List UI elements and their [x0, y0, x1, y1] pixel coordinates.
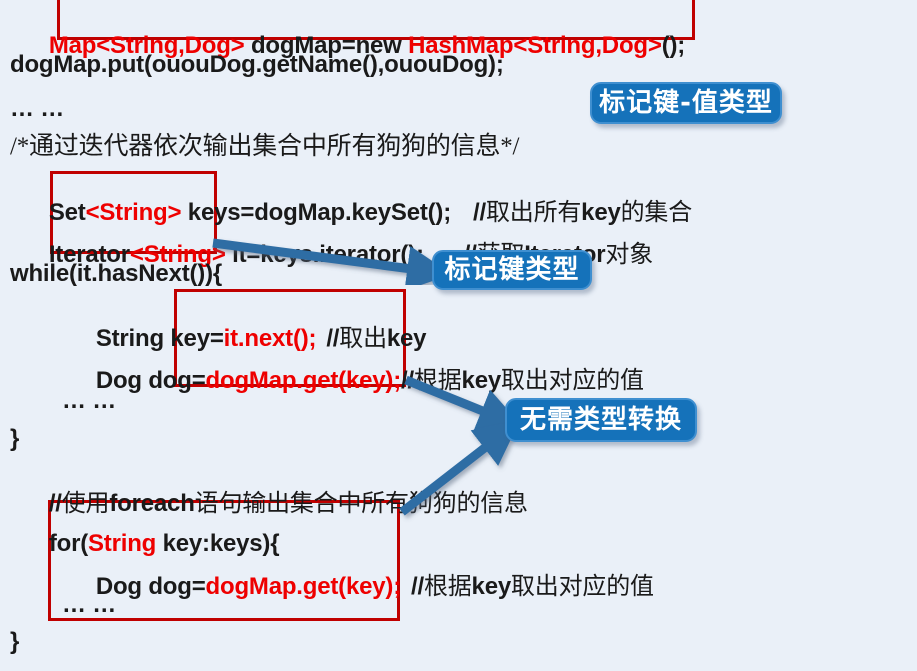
code-line-3-ellipsis: … …	[10, 97, 64, 121]
code-comment-cjk-14b: 取出对应的值	[511, 574, 654, 600]
code-line-15-ellipsis: … …	[62, 593, 116, 617]
code-comment-slash-9: //	[401, 367, 414, 394]
code-comment-cjk-9a: 根据	[414, 368, 462, 394]
code-token-ctor-parens: ();	[662, 32, 685, 59]
code-line-16-close-brace: }	[10, 630, 19, 654]
code-token-dogmap-get: dogMap.get(key);	[206, 367, 401, 394]
code-comment-cjk-6b: 对象	[605, 242, 653, 268]
code-line-4-block-comment: /*通过迭代器依次输出集合中所有狗狗的信息*/	[10, 135, 519, 159]
code-token-iterator-call: it=keys.iterator();	[226, 241, 424, 268]
code-line-10-ellipsis: … …	[62, 389, 116, 413]
callout-no-cast[interactable]: 无需类型转换	[505, 398, 697, 442]
code-line-2: dogMap.put(ououDog.getName(),ououDog);	[10, 53, 504, 77]
code-comment-cjk-9b: 取出对应的值	[501, 368, 644, 394]
slide-canvas: 标记键-值类型 标记键类型 无需类型转换 Map<String,Dog> dog…	[0, 0, 917, 671]
code-line-11-close-brace: }	[10, 427, 19, 451]
code-line-14: Dog dog=dogMap.get(key);//根据key取出对应的值	[57, 551, 654, 623]
callout-key-type[interactable]: 标记键类型	[432, 250, 592, 290]
code-token-dogmap-get-2: dogMap.get(key);	[206, 573, 401, 600]
code-line-7-while: while(it.hasNext()){	[10, 262, 222, 286]
code-comment-cjk-14a: 根据	[424, 574, 472, 600]
callout-key-value-type[interactable]: 标记键-值类型	[590, 82, 782, 124]
code-comment-en-9: key	[462, 367, 501, 394]
code-comment-en-14: key	[472, 573, 511, 600]
code-comment-slash-14: //	[411, 573, 424, 600]
